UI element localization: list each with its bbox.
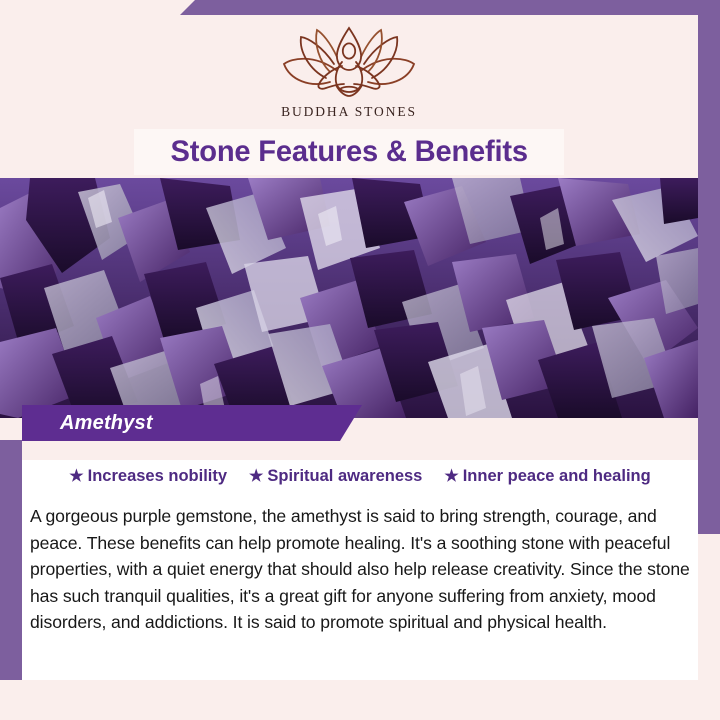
stone-name-band: Amethyst: [22, 405, 362, 441]
title-panel: Stone Features & Benefits: [134, 129, 564, 175]
frame-right-accent: [698, 0, 720, 534]
content-panel: ★ Increases nobility ★ Spiritual awarene…: [22, 441, 698, 680]
stone-name: Amethyst: [60, 412, 153, 435]
star-icon: ★: [69, 469, 83, 485]
brand-logo: [269, 23, 429, 103]
benefit-item: ★ Inner peace and healing: [444, 467, 650, 486]
amethyst-photo: [0, 178, 698, 418]
stone-description: A gorgeous purple gemstone, the amethyst…: [30, 503, 690, 636]
lotus-meditation-icon: [274, 24, 424, 102]
panel-top-strip: [22, 441, 698, 460]
frame-left-accent: [0, 440, 22, 680]
star-icon: ★: [249, 469, 263, 485]
header: BUDDHA STONES Stone Features & Benefits: [0, 15, 698, 178]
benefit-label: Inner peace and healing: [463, 467, 651, 486]
star-icon: ★: [444, 469, 458, 485]
benefits-list: ★ Increases nobility ★ Spiritual awarene…: [22, 467, 698, 486]
benefit-item: ★ Spiritual awareness: [249, 467, 422, 486]
page-title: Stone Features & Benefits: [170, 135, 527, 169]
frame-top-accent: [0, 0, 720, 15]
benefit-label: Increases nobility: [88, 467, 227, 486]
brand-name: BUDDHA STONES: [281, 104, 417, 120]
benefit-item: ★ Increases nobility: [69, 467, 227, 486]
benefit-label: Spiritual awareness: [267, 467, 422, 486]
